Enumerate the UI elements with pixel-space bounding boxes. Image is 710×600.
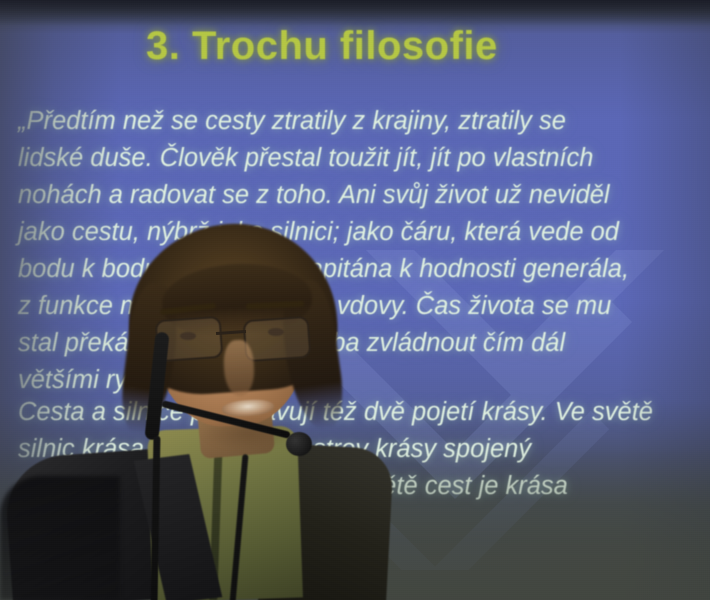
slide-title: 3. Trochu filosofie <box>146 24 498 69</box>
microphone-icon <box>286 432 312 456</box>
screenshot-frame: 3. Trochu filosofie „Předtím než se cest… <box>0 0 710 600</box>
speaker-figure <box>0 240 380 600</box>
shoulder-shadow <box>0 476 120 600</box>
eyeglass-bridge <box>216 330 246 335</box>
